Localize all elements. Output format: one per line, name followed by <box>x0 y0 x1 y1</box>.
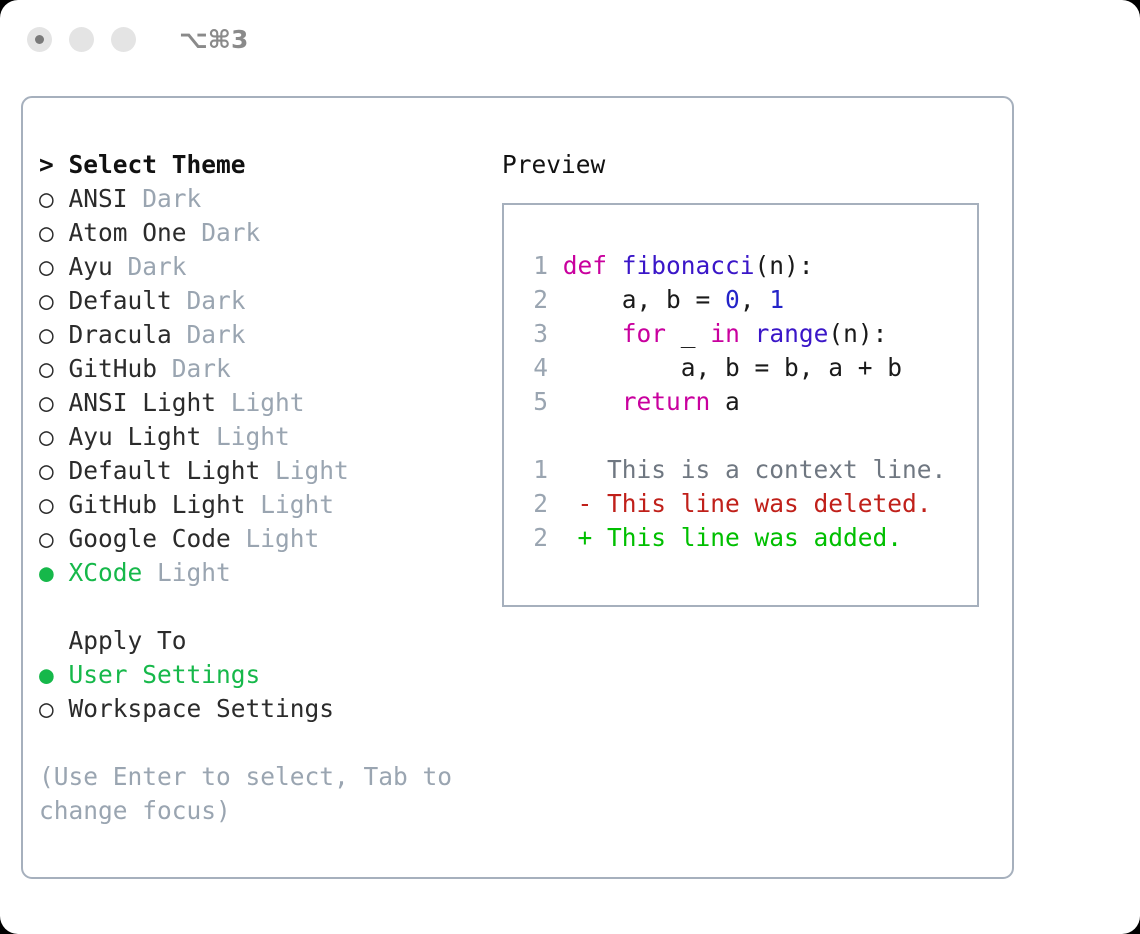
code-line: 2 a, b = 0, 1 <box>522 283 977 317</box>
diff-text: This line was added. <box>592 523 902 552</box>
radio-unselected-icon: ○ <box>39 354 54 383</box>
code-token-num: 1 <box>769 285 784 314</box>
radio-selected-icon: ● <box>39 558 54 587</box>
code-token-plain: (n): <box>828 319 887 348</box>
theme-option-default[interactable]: ○ Default Dark <box>39 284 489 318</box>
theme-option-category: Light <box>246 490 335 519</box>
radio-unselected-icon: ○ <box>39 456 54 485</box>
radio-unselected-icon: ○ <box>39 524 54 553</box>
traffic-light-third[interactable] <box>111 27 136 52</box>
theme-option-label: Ayu Light <box>54 422 202 451</box>
code-token-plain: a <box>710 387 740 416</box>
radio-unselected-icon: ○ <box>39 694 54 723</box>
theme-option-label: ANSI Light <box>54 388 216 417</box>
line-number: 2 <box>522 283 548 317</box>
preview-title: Preview <box>502 148 1002 182</box>
theme-option-label: Ayu <box>54 252 113 281</box>
code-token-kw: in <box>710 319 740 348</box>
theme-option-category: Light <box>142 558 231 587</box>
code-line: 4 a, b = b, a + b <box>522 351 977 385</box>
diff-line: 1 This is a context line. <box>522 453 977 487</box>
code-token-plain <box>563 387 622 416</box>
theme-option-label: Dracula <box>54 320 172 349</box>
gutter-space <box>548 387 563 416</box>
radio-unselected-icon: ○ <box>39 422 54 451</box>
apply-to-option-label: User Settings <box>54 660 261 689</box>
theme-option-list: ○ ANSI Dark○ Atom One Dark○ Ayu Dark○ De… <box>39 182 489 590</box>
main-panel: > Select Theme ○ ANSI Dark○ Atom One Dar… <box>21 96 1014 879</box>
theme-option-category: Dark <box>172 286 246 315</box>
theme-option-xcode[interactable]: ● XCode Light <box>39 556 489 590</box>
theme-option-category: Light <box>201 422 290 451</box>
keyboard-shortcut-label: ⌥⌘3 <box>179 25 248 54</box>
radio-unselected-icon: ○ <box>39 388 54 417</box>
gutter-space <box>548 251 563 280</box>
theme-option-atom-one[interactable]: ○ Atom One Dark <box>39 216 489 250</box>
panel-columns: > Select Theme ○ ANSI Dark○ Atom One Dar… <box>23 98 1012 877</box>
theme-option-category: Dark <box>113 252 187 281</box>
gutter-space <box>548 319 563 348</box>
traffic-light-active[interactable] <box>27 27 52 52</box>
theme-option-label: Google Code <box>54 524 231 553</box>
apply-to-header-label: Apply To <box>69 626 187 655</box>
gutter-space <box>548 523 578 552</box>
theme-option-ansi-light[interactable]: ○ ANSI Light Light <box>39 386 489 420</box>
title-bar: ⌥⌘3 <box>0 0 1140 78</box>
radio-unselected-icon: ○ <box>39 252 54 281</box>
apply-to-option-workspace-settings[interactable]: ○ Workspace Settings <box>39 692 489 726</box>
gutter-space <box>548 455 578 484</box>
theme-option-ayu-light[interactable]: ○ Ayu Light Light <box>39 420 489 454</box>
theme-option-category: Dark <box>128 184 202 213</box>
radio-unselected-icon: ○ <box>39 184 54 213</box>
apply-to-option-user-settings[interactable]: ● User Settings <box>39 658 489 692</box>
theme-option-github[interactable]: ○ GitHub Dark <box>39 352 489 386</box>
theme-option-label: ANSI <box>54 184 128 213</box>
apply-to-option-label: Workspace Settings <box>54 694 334 723</box>
theme-option-label: Default <box>54 286 172 315</box>
line-number: 4 <box>522 351 548 385</box>
apply-to-header: Apply To <box>39 624 489 658</box>
diff-text: This is a context line. <box>592 455 946 484</box>
theme-option-category: Dark <box>157 354 231 383</box>
traffic-light-active-dot <box>35 35 44 44</box>
gutter-space <box>548 353 563 382</box>
preview-column: Preview 1 def fibonacci(n):2 a, b = 0, 1… <box>502 148 1002 607</box>
apply-to-option-list: ● User Settings○ Workspace Settings <box>39 658 489 726</box>
select-theme-header: > Select Theme <box>39 148 489 182</box>
line-number: 5 <box>522 385 548 419</box>
app-window: ⌥⌘3 > Select Theme ○ ANSI Dark○ Atom One… <box>0 0 1140 934</box>
gutter-space <box>548 489 578 518</box>
diff-line: 2 + This line was added. <box>522 521 977 555</box>
code-line: 1 def fibonacci(n): <box>522 249 977 283</box>
theme-option-label: Default Light <box>54 456 261 485</box>
code-token-kw: for <box>622 319 666 348</box>
theme-option-label: GitHub Light <box>54 490 246 519</box>
code-token-plain: a, b = <box>563 285 725 314</box>
code-token-kw: def <box>563 251 622 280</box>
radio-unselected-icon: ○ <box>39 490 54 519</box>
theme-option-category: Light <box>260 456 349 485</box>
line-number: 3 <box>522 317 548 351</box>
theme-option-github-light[interactable]: ○ GitHub Light Light <box>39 488 489 522</box>
theme-option-label: Atom One <box>54 218 187 247</box>
theme-option-label: XCode <box>54 558 143 587</box>
code-line: 5 return a <box>522 385 977 419</box>
code-token-plain <box>740 319 755 348</box>
radio-unselected-icon: ○ <box>39 218 54 247</box>
theme-option-dracula[interactable]: ○ Dracula Dark <box>39 318 489 352</box>
radio-unselected-icon: ○ <box>39 286 54 315</box>
diff-line: 2 - This line was deleted. <box>522 487 977 521</box>
code-token-num: 0 <box>725 285 740 314</box>
diff-text: This line was deleted. <box>592 489 931 518</box>
code-token-plain <box>563 319 622 348</box>
theme-option-category: Light <box>231 524 320 553</box>
theme-option-default-light[interactable]: ○ Default Light Light <box>39 454 489 488</box>
diff-marker <box>578 455 593 484</box>
code-diff-spacer <box>522 419 977 453</box>
preview-box: 1 def fibonacci(n):2 a, b = 0, 13 for _ … <box>502 203 979 607</box>
traffic-lights <box>27 27 136 52</box>
theme-option-ansi[interactable]: ○ ANSI Dark <box>39 182 489 216</box>
code-line: 3 for _ in range(n): <box>522 317 977 351</box>
code-token-plain: (n): <box>755 251 814 280</box>
code-token-fn: fibonacci <box>622 251 755 280</box>
theme-option-category: Dark <box>172 320 246 349</box>
section-spacer <box>39 590 489 624</box>
keyboard-hint-text: (Use Enter to select, Tab to change focu… <box>39 760 459 828</box>
theme-option-ayu[interactable]: ○ Ayu Dark <box>39 250 489 284</box>
radio-selected-icon: ● <box>39 660 54 689</box>
theme-option-category: Light <box>216 388 305 417</box>
diff-marker: - <box>578 489 593 518</box>
code-token-plain: , <box>740 285 770 314</box>
code-sample: 1 def fibonacci(n):2 a, b = 0, 13 for _ … <box>522 249 977 419</box>
line-number: 1 <box>522 453 548 487</box>
radio-unselected-icon: ○ <box>39 320 54 349</box>
line-number: 1 <box>522 249 548 283</box>
code-token-fn: range <box>755 319 829 348</box>
line-number: 2 <box>522 521 548 555</box>
diff-sample: 1 This is a context line.2 - This line w… <box>522 453 977 555</box>
traffic-light-second[interactable] <box>69 27 94 52</box>
gutter-space <box>548 285 563 314</box>
theme-option-category: Dark <box>187 218 261 247</box>
code-token-plain: a, b = b, a + b <box>563 353 902 382</box>
theme-option-google-code[interactable]: ○ Google Code Light <box>39 522 489 556</box>
diff-marker: + <box>578 523 593 552</box>
code-token-kw: return <box>622 387 711 416</box>
code-token-plain: _ <box>666 319 710 348</box>
theme-option-label: GitHub <box>54 354 157 383</box>
theme-selection-column: > Select Theme ○ ANSI Dark○ Atom One Dar… <box>39 148 489 828</box>
line-number: 2 <box>522 487 548 521</box>
